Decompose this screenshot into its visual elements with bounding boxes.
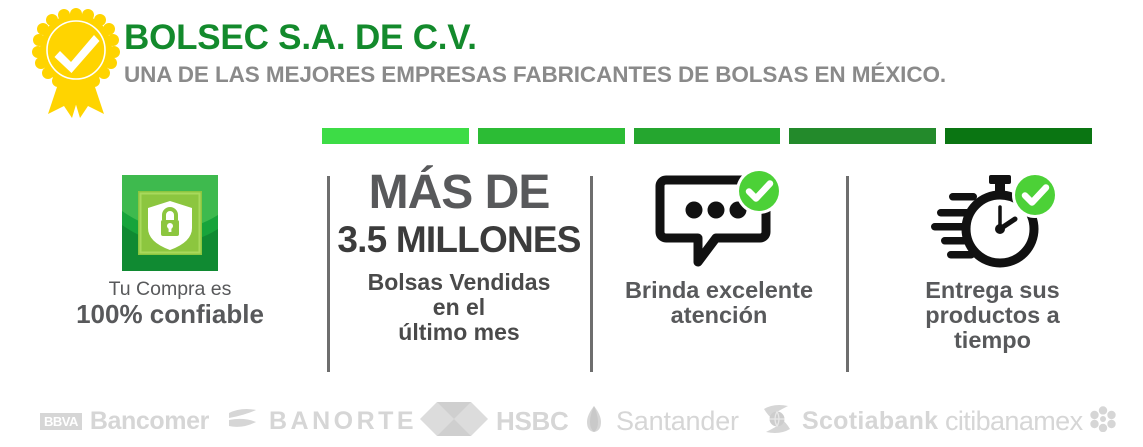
feature-4-caption: Entrega sus productos a tiempo [850, 278, 1135, 353]
feature-4-line-3: tiempo [850, 328, 1135, 353]
feature-2-line-1: Bolsas Vendidas [331, 266, 587, 295]
feature-3-caption: Brinda excelente atención [594, 278, 844, 328]
banorte-icon [225, 406, 261, 437]
bank-logo-bancomer: BBVA Bancomer [40, 396, 209, 447]
feature-divider-3 [846, 176, 849, 372]
feature-4-line-1: Entrega sus [850, 278, 1135, 303]
bank-name-scotiabank: Scotiabank [802, 407, 938, 436]
shield-lock-icon [20, 168, 320, 278]
award-ribbon-check-icon [26, 6, 126, 118]
santander-flame-icon [580, 404, 608, 439]
feature-row: Tu Compra es 100% confiable MÁS DE 3.5 M… [0, 168, 1143, 383]
feature-2-line-2: en el [331, 295, 587, 320]
bank-name-santander: Santander [616, 406, 739, 437]
feature-on-time-delivery: Entrega sus productos a tiempo [850, 168, 1135, 353]
feature-customer-service: Brinda excelente atención [594, 168, 844, 328]
company-name: BOLSEC S.A. DE C.V. [124, 18, 946, 58]
hsbc-hexagon-icon [420, 402, 488, 441]
bank-name-hsbc: HSBC [496, 406, 568, 437]
speech-bubble-check-icon [594, 168, 844, 278]
bank-logo-citibanamex: citibanamex [945, 396, 1116, 447]
feature-divider-1 [327, 176, 330, 372]
gradient-bar-3 [634, 128, 781, 144]
feature-2-caption: Bolsas Vendidas en el último mes [331, 262, 587, 345]
feature-3-line-1: Brinda excelente [594, 278, 844, 303]
gradient-bar-row [322, 128, 1092, 144]
scotiabank-globe-icon [760, 403, 794, 440]
bank-name-citibanamex: citibanamex [945, 406, 1082, 437]
bank-logo-banorte: BANORTE [225, 396, 417, 447]
feature-3-line-2: atención [594, 303, 844, 328]
feature-2-number: 3.5 MILLONES [331, 218, 587, 262]
bank-logo-hsbc: HSBC [420, 396, 568, 447]
feature-1-line-1: Tu Compra es [20, 278, 320, 300]
feature-2-line-3: último mes [331, 320, 587, 345]
feature-bags-sold: MÁS DE 3.5 MILLONES Bolsas Vendidas en e… [331, 168, 587, 345]
gradient-bar-5 [945, 128, 1092, 144]
feature-divider-2 [590, 176, 593, 372]
company-tagline: UNA DE LAS MEJORES EMPRESAS FABRICANTES … [124, 58, 946, 89]
feature-2-headline: MÁS DE [331, 168, 587, 218]
feature-1-line-2: 100% confiable [20, 300, 320, 329]
feature-trustworthy: Tu Compra es 100% confiable [20, 168, 320, 329]
bank-logo-row: BBVA Bancomer BANORTE HSBC S [0, 396, 1143, 447]
bank-name-bancomer: Bancomer [90, 407, 209, 436]
feature-4-line-2: productos a [850, 303, 1135, 328]
title-block: BOLSEC S.A. DE C.V. UNA DE LAS MEJORES E… [124, 18, 946, 89]
stopwatch-check-icon [850, 168, 1135, 278]
bank-logo-santander: Santander [580, 396, 739, 447]
header: BOLSEC S.A. DE C.V. UNA DE LAS MEJORES E… [0, 0, 1143, 118]
bank-name-banorte: BANORTE [269, 407, 417, 436]
gradient-bar-2 [478, 128, 625, 144]
feature-1-caption: Tu Compra es 100% confiable [20, 278, 320, 329]
bbva-box-icon: BBVA [40, 413, 82, 430]
citibanamex-flower-icon [1090, 406, 1116, 437]
gradient-bar-4 [789, 128, 936, 144]
bank-logo-scotiabank: Scotiabank [760, 396, 938, 447]
gradient-bar-1 [322, 128, 469, 144]
